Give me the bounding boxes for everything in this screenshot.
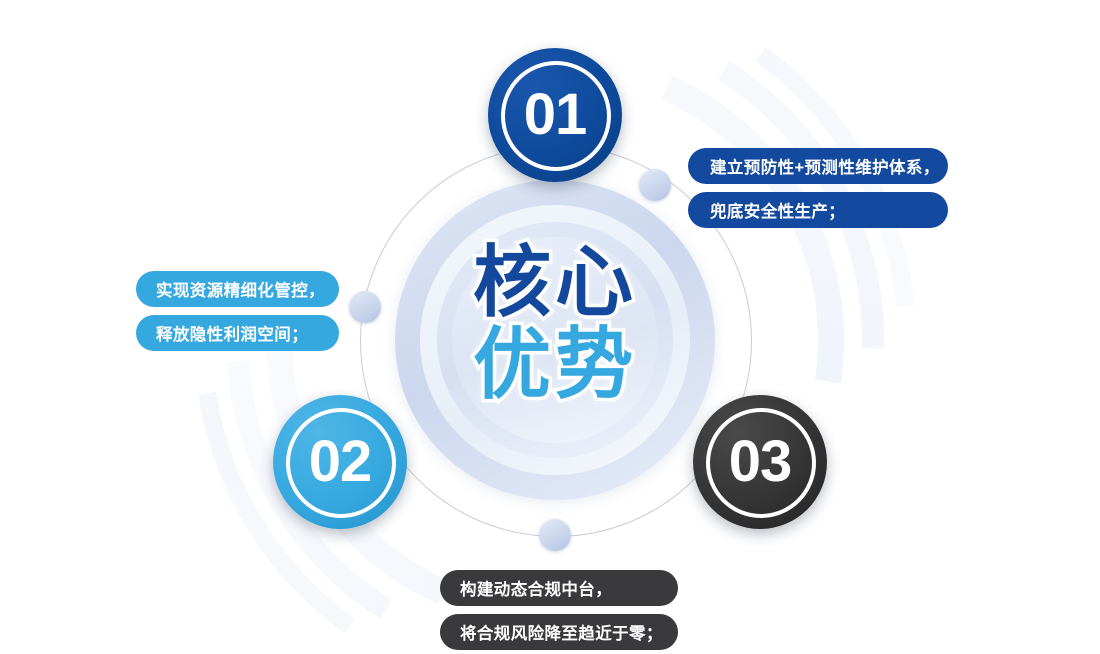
badge-03[interactable]: 03 — [693, 395, 827, 529]
label-group-02: 实现资源精细化管控， 释放隐性利润空间； — [136, 271, 339, 351]
label-group-03: 构建动态合规中台， 将合规风险降至趋近于零； — [440, 570, 678, 650]
badge-03-number: 03 — [729, 433, 792, 491]
connector-dot-03 — [539, 519, 571, 551]
label-pill-02-a[interactable]: 实现资源精细化管控， — [136, 271, 339, 307]
badge-02[interactable]: 02 — [273, 395, 407, 529]
center-title-line1: 核心 — [473, 238, 637, 326]
badge-02-number: 02 — [309, 433, 372, 491]
label-pill-01-a[interactable]: 建立预防性+预测性维护体系， — [688, 148, 948, 184]
infographic-canvas: 核心 优势 01 02 03 建立预防性+预测性维护体系， 兜底安全性生产； 实… — [0, 0, 1100, 654]
connector-dot-02 — [349, 291, 381, 323]
label-pill-01-b[interactable]: 兜底安全性生产； — [688, 192, 948, 228]
label-pill-03-a[interactable]: 构建动态合规中台， — [440, 570, 678, 606]
badge-01[interactable]: 01 — [488, 48, 622, 182]
center-title: 核心 优势 — [405, 243, 705, 404]
label-group-01: 建立预防性+预测性维护体系， 兜底安全性生产； — [688, 148, 948, 228]
badge-01-number: 01 — [524, 86, 587, 144]
center-title-line2: 优势 — [405, 325, 705, 405]
label-pill-03-b[interactable]: 将合规风险降至趋近于零； — [440, 614, 678, 650]
connector-dot-01 — [639, 169, 671, 201]
label-pill-02-b[interactable]: 释放隐性利润空间； — [136, 315, 339, 351]
